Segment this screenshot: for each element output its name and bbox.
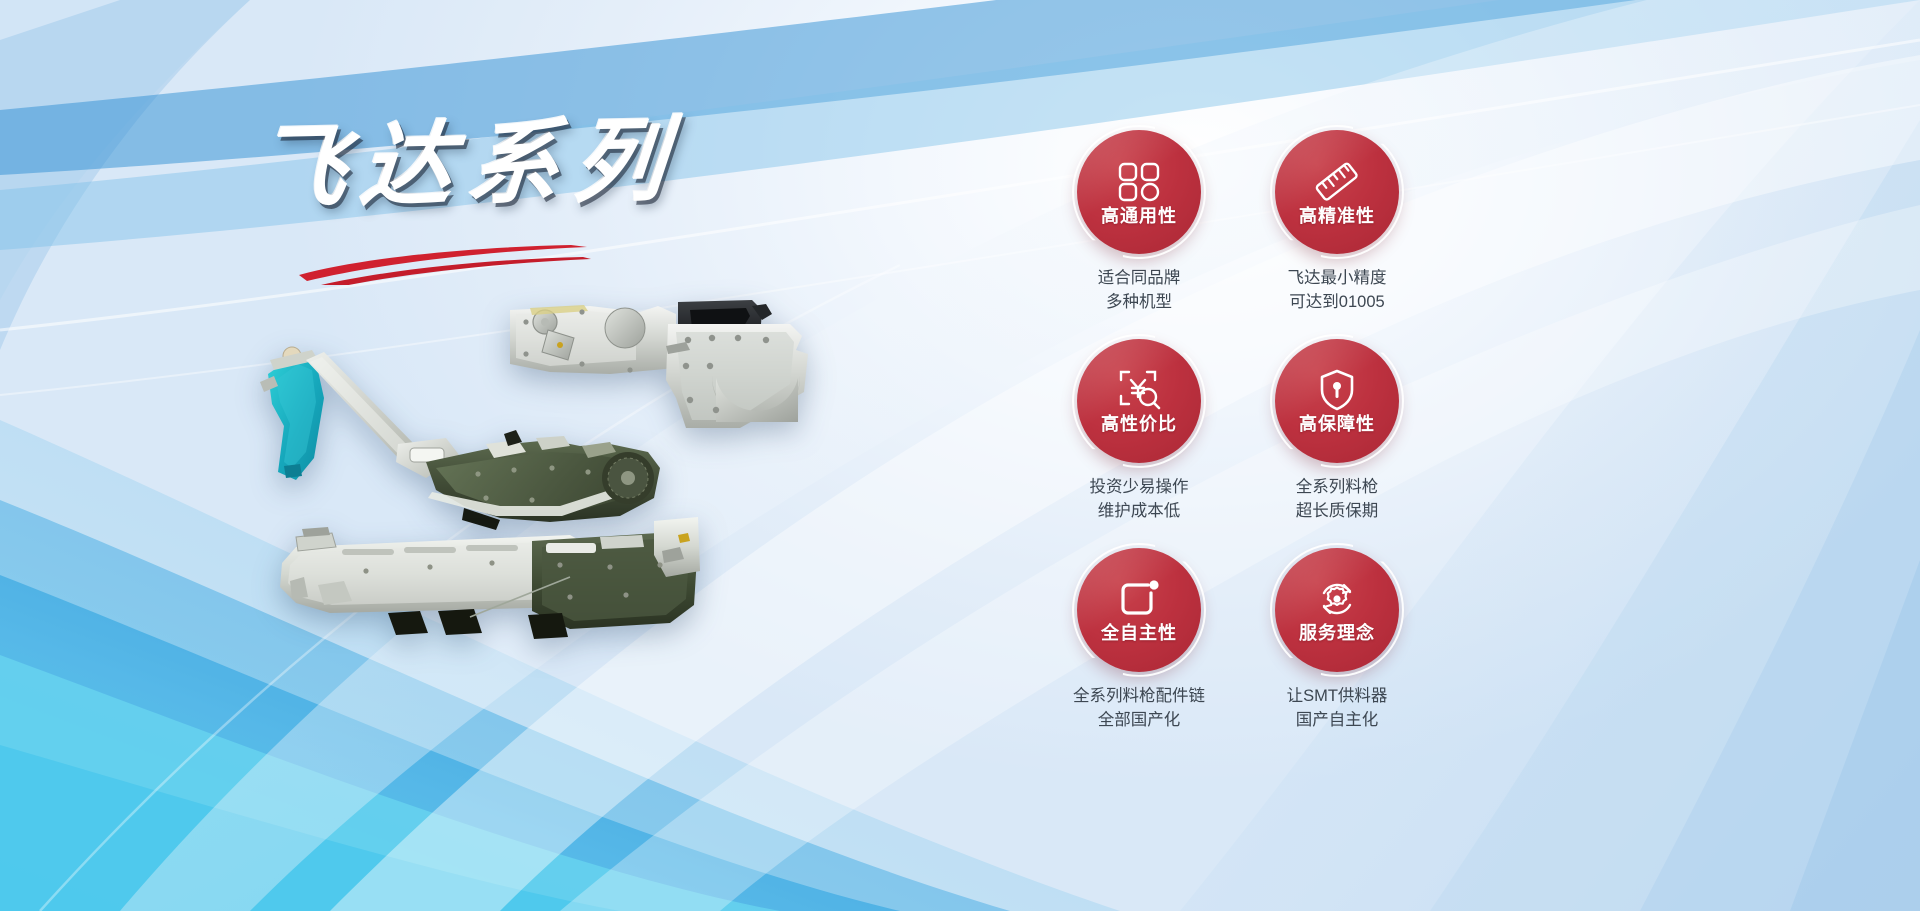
shield-lock-icon <box>1313 368 1361 412</box>
caption-line: 全系列料枪配件链 <box>1073 685 1205 709</box>
feature-caption: 全系列料枪配件链 全部国产化 <box>1073 685 1205 733</box>
feature-item[interactable]: 全自主性 全系列料枪配件链 全部国产化 <box>1065 548 1213 733</box>
feature-label: 高精准性 <box>1299 207 1375 225</box>
product-long-green-feeder <box>270 485 700 665</box>
feature-label: 全自主性 <box>1101 624 1177 642</box>
feature-grid: 高通用性 适合同品牌 多种机型 高精准性 <box>1065 130 1355 733</box>
caption-line: 维护成本低 <box>1090 500 1189 524</box>
caption-line: 飞达最小精度 <box>1288 267 1387 291</box>
feature-caption: 飞达最小精度 可达到01005 <box>1288 267 1387 315</box>
feature-caption: 适合同品牌 多种机型 <box>1098 267 1181 315</box>
caption-line: 国产自主化 <box>1287 709 1388 733</box>
caption-line: 全部国产化 <box>1073 709 1205 733</box>
feature-item[interactable]: 高精准性 飞达最小精度 可达到01005 <box>1263 130 1411 315</box>
hero-banner: 飞达系列 <box>0 0 1920 911</box>
caption-line: 可达到01005 <box>1288 291 1387 315</box>
feature-badge[interactable]: 高保障性 <box>1275 339 1399 463</box>
feature-badge[interactable]: 高性价比 <box>1077 339 1201 463</box>
feature-caption: 投资少易操作 维护成本低 <box>1090 476 1189 524</box>
feature-badge[interactable]: 全自主性 <box>1077 548 1201 672</box>
gear-refresh-icon <box>1313 577 1361 621</box>
square-dot-icon <box>1115 577 1163 621</box>
feature-item[interactable]: 高性价比 投资少易操作 维护成本低 <box>1065 339 1213 524</box>
ruler-icon <box>1313 160 1361 204</box>
feature-item[interactable]: 高保障性 全系列料枪 超长质保期 <box>1263 339 1411 524</box>
grid-squares-icon <box>1115 160 1163 204</box>
caption-line: 多种机型 <box>1098 291 1181 315</box>
feature-label: 高通用性 <box>1101 207 1177 225</box>
feature-item[interactable]: 高通用性 适合同品牌 多种机型 <box>1065 130 1213 315</box>
feature-item[interactable]: 服务理念 让SMT供料器 国产自主化 <box>1263 548 1411 733</box>
feature-badge[interactable]: 高通用性 <box>1077 130 1201 254</box>
feature-label: 高保障性 <box>1299 415 1375 433</box>
caption-line: 全系列料枪 <box>1296 476 1379 500</box>
yen-search-icon <box>1115 368 1163 412</box>
caption-line: 适合同品牌 <box>1098 267 1181 291</box>
feature-caption: 让SMT供料器 国产自主化 <box>1287 685 1388 733</box>
feature-badge[interactable]: 高精准性 <box>1275 130 1399 254</box>
feature-label: 高性价比 <box>1101 415 1177 433</box>
page-title: 飞达系列 <box>250 110 779 218</box>
caption-line: 让SMT供料器 <box>1287 685 1388 709</box>
product-image-group <box>240 270 880 700</box>
feature-badge[interactable]: 服务理念 <box>1275 548 1399 672</box>
feature-label: 服务理念 <box>1299 624 1375 642</box>
caption-line: 投资少易操作 <box>1090 476 1189 500</box>
feature-caption: 全系列料枪 超长质保期 <box>1296 476 1379 524</box>
caption-line: 超长质保期 <box>1296 500 1379 524</box>
